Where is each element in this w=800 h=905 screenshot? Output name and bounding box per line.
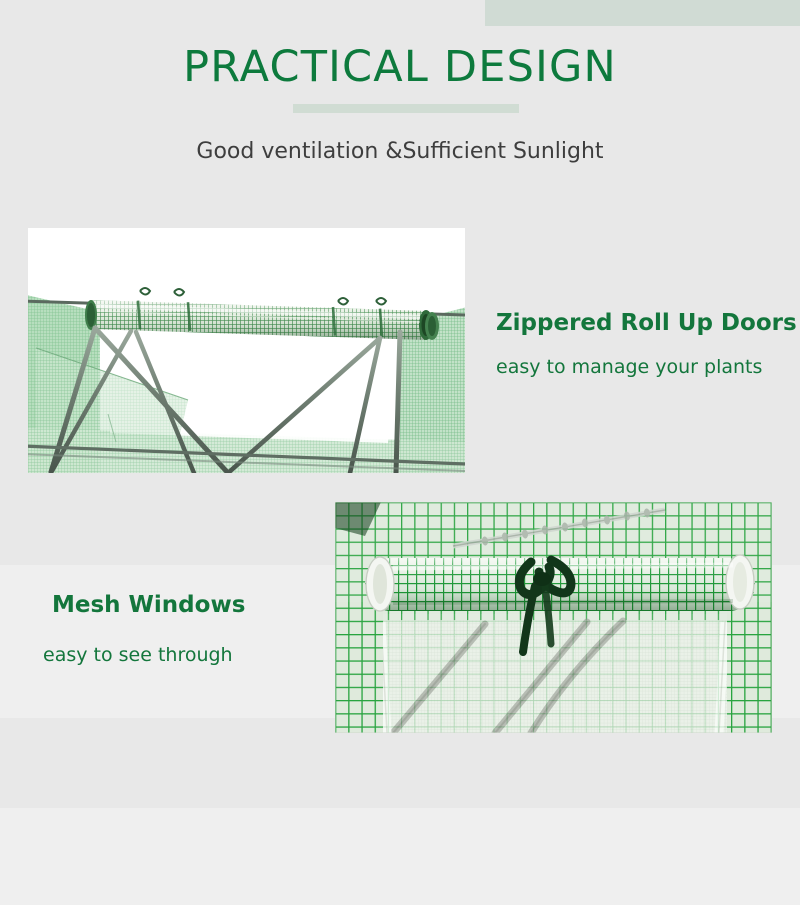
title-underline-rule	[293, 104, 519, 113]
callout-title: Zippered Roll Up Doors	[496, 310, 797, 336]
callout-mesh-windows: Mesh Windows easy to see through	[52, 592, 245, 666]
callout-zippered-roll-up-doors: Zippered Roll Up Doors easy to manage yo…	[496, 310, 797, 378]
greenhouse-roof-illustration	[28, 228, 465, 473]
photo-zippered-roll-up-doors	[28, 228, 465, 473]
page-root: PRACTICAL DESIGN Good ventilation &Suffi…	[0, 0, 800, 800]
mesh-window-illustration	[335, 502, 772, 733]
callout-subtitle: easy to see through	[43, 644, 245, 666]
callout-title: Mesh Windows	[52, 592, 245, 618]
corner-accent-bar	[485, 0, 800, 26]
page-subtitle: Good ventilation &Sufficient Sunlight	[0, 139, 800, 164]
photo-mesh-window	[335, 502, 772, 733]
page-title: PRACTICAL DESIGN	[0, 42, 800, 92]
callout-subtitle: easy to manage your plants	[496, 356, 797, 378]
